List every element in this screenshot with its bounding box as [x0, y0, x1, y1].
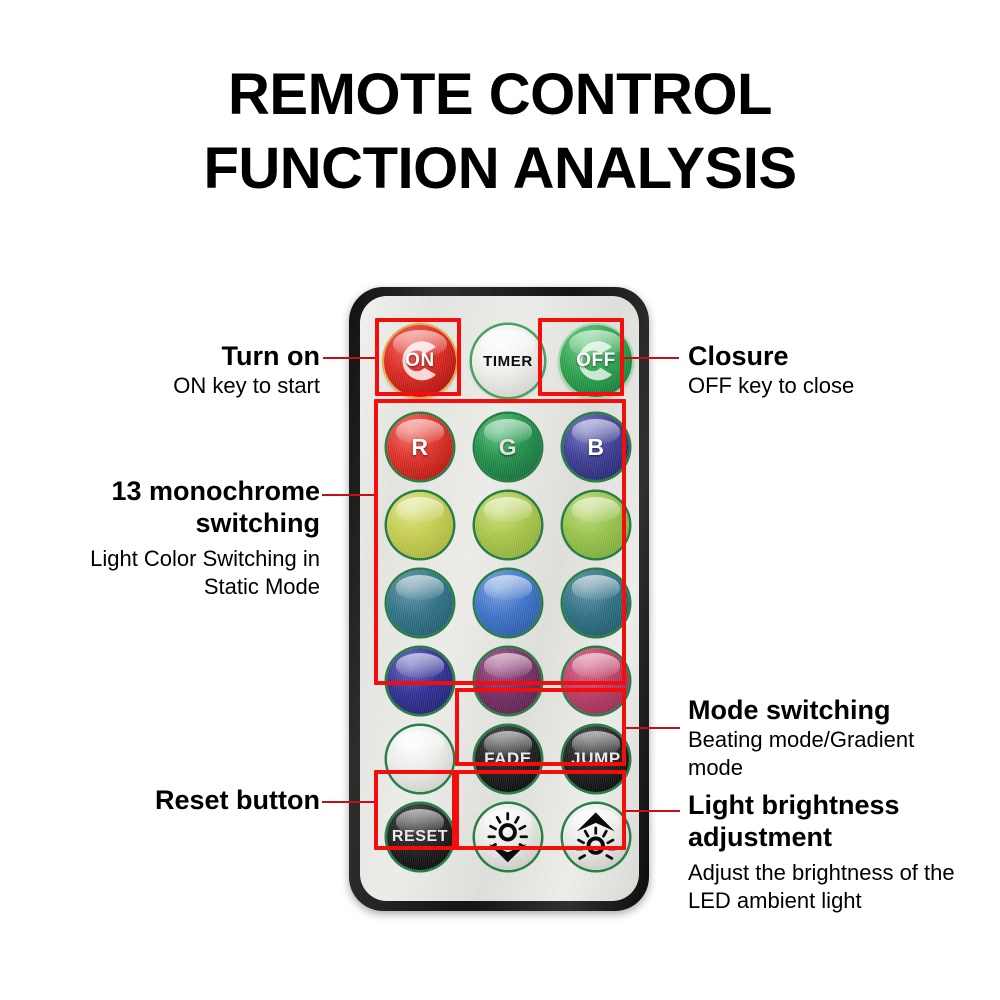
- leader-line-monochrome: [322, 494, 376, 496]
- annotation-reset: Reset button: [20, 784, 320, 816]
- timer-key-label: TIMER: [483, 353, 533, 370]
- annotation-mode-sub-line-1: Beating mode/Gradient: [688, 726, 988, 754]
- red-key-label: R: [411, 434, 428, 461]
- annotation-mode-switching: Mode switching Beating mode/Gradient mod…: [688, 694, 988, 782]
- annotation-turn-on: Turn on ON key to start: [20, 340, 320, 400]
- timer-key[interactable]: TIMER: [472, 325, 544, 397]
- annotation-monochrome-sub-line-2: Static Mode: [20, 573, 320, 601]
- annotation-brightness-sub-line-1: Adjust the brightness of the: [688, 859, 998, 887]
- annotation-monochrome: 13 monochrome switching Light Color Swit…: [20, 475, 320, 601]
- annotation-turn-on-sub: ON key to start: [20, 372, 320, 400]
- jump-key-label: JUMP: [571, 749, 621, 769]
- power-swoosh-icon: [391, 332, 449, 390]
- sun-up-icon: [568, 809, 623, 864]
- annotation-turn-on-heading: Turn on: [20, 340, 320, 372]
- color-key-purple[interactable]: [475, 648, 541, 714]
- white-key[interactable]: [387, 726, 453, 792]
- remote-control-device: ON TIMER OFF R G: [349, 287, 649, 911]
- color-key-teal[interactable]: [387, 570, 453, 636]
- power-swoosh-icon: [567, 332, 625, 390]
- brightness-up-key[interactable]: [563, 804, 629, 870]
- color-key-blue[interactable]: [475, 570, 541, 636]
- sun-down-icon: [480, 809, 535, 864]
- remote-faceplate: ON TIMER OFF R G: [360, 296, 639, 901]
- annotation-brightness-heading-line-1: Light brightness: [688, 789, 998, 821]
- annotation-reset-heading: Reset button: [20, 784, 320, 816]
- color-key-teal-dark[interactable]: [563, 570, 629, 636]
- infographic-canvas: REMOTE CONTROL FUNCTION ANALYSIS ON TIME…: [0, 0, 1000, 1000]
- off-key[interactable]: OFF: [560, 325, 632, 397]
- remote-keypad: ON TIMER OFF R G: [360, 296, 639, 901]
- annotation-mode-sub-line-2: mode: [688, 754, 988, 782]
- annotation-mode-heading: Mode switching: [688, 694, 988, 726]
- title-line-2: FUNCTION ANALYSIS: [0, 132, 1000, 206]
- leader-line-turn-on: [323, 357, 377, 359]
- green-key-label: G: [499, 434, 518, 461]
- fade-key-label: FADE: [484, 749, 532, 769]
- jump-key[interactable]: JUMP: [563, 726, 629, 792]
- blue-key[interactable]: B: [563, 414, 629, 480]
- annotation-closure: Closure OFF key to close: [688, 340, 988, 400]
- leader-line-reset: [322, 801, 376, 803]
- on-key[interactable]: ON: [384, 325, 456, 397]
- blue-key-label: B: [587, 434, 604, 461]
- annotation-monochrome-heading-line-2: switching: [20, 507, 320, 539]
- annotation-closure-heading: Closure: [688, 340, 988, 372]
- annotation-brightness-heading-line-2: adjustment: [688, 821, 998, 853]
- red-key[interactable]: R: [387, 414, 453, 480]
- annotation-brightness: Light brightness adjustment Adjust the b…: [688, 789, 998, 915]
- color-key-lime[interactable]: [475, 492, 541, 558]
- color-key-magenta[interactable]: [563, 648, 629, 714]
- color-key-indigo[interactable]: [387, 648, 453, 714]
- annotation-closure-sub: OFF key to close: [688, 372, 988, 400]
- green-key[interactable]: G: [475, 414, 541, 480]
- leader-line-brightness: [624, 810, 680, 812]
- title-line-1: REMOTE CONTROL: [0, 58, 1000, 132]
- color-key-green-yellow[interactable]: [563, 492, 629, 558]
- leader-line-closure: [623, 357, 679, 359]
- page-title: REMOTE CONTROL FUNCTION ANALYSIS: [0, 58, 1000, 206]
- reset-key-label: RESET: [392, 828, 448, 846]
- annotation-monochrome-sub-line-1: Light Color Switching in: [20, 545, 320, 573]
- brightness-down-key[interactable]: [475, 804, 541, 870]
- annotation-monochrome-heading-line-1: 13 monochrome: [20, 475, 320, 507]
- fade-key[interactable]: FADE: [475, 726, 541, 792]
- reset-key[interactable]: RESET: [387, 804, 453, 870]
- leader-line-mode: [624, 727, 680, 729]
- annotation-brightness-sub-line-2: LED ambient light: [688, 887, 998, 915]
- color-key-yellow-green[interactable]: [387, 492, 453, 558]
